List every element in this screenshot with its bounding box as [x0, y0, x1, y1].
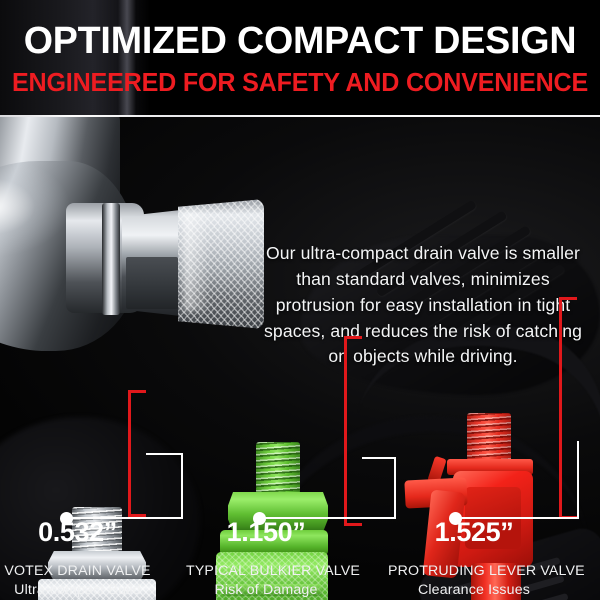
valve-note-label: Risk of Damage [186, 581, 346, 600]
measure-bracket-protruding [559, 297, 577, 519]
elbow-ring [102, 203, 120, 315]
header-banner: OPTIMIZED COMPACT DESIGN ENGINEERED FOR … [0, 0, 600, 116]
valve-threaded-nipple [467, 413, 511, 463]
measurement-value: 1.525” [388, 519, 560, 546]
measure-leader-typical [362, 457, 396, 519]
measure-leader-protruding [577, 441, 579, 519]
page-title: OPTIMIZED COMPACT DESIGN [3, 22, 597, 60]
hero-valve-highlight [184, 211, 210, 311]
hero-product-image [0, 117, 270, 407]
hero-valve-hex-face [126, 257, 178, 309]
valve-name-label: PROTRUDING LEVER VALVE [388, 562, 560, 581]
valve-name-label: TYPICAL BULKIER VALVE [186, 562, 346, 581]
valve-name-label: VOTEX DRAIN VALVE [0, 562, 155, 581]
description-paragraph: Our ultra-compact drain valve is smaller… [256, 241, 590, 370]
measurement-value: 0.532” [0, 519, 155, 546]
valve-threaded-nipple [256, 442, 300, 494]
caption-protruding: 1.525” PROTRUDING LEVER VALVE Clearance … [388, 519, 560, 599]
valve-note-label: Ultra-compact Build [0, 581, 155, 600]
measure-bracket-votex [128, 390, 146, 517]
infographic-page: OPTIMIZED COMPACT DESIGN ENGINEERED FOR … [0, 0, 600, 600]
valve-note-label: Clearance Issues [388, 581, 560, 600]
page-subtitle: ENGINEERED FOR SAFETY AND CONVENIENCE [5, 71, 596, 97]
measurement-value: 1.150” [186, 519, 346, 546]
measure-bracket-typical [344, 336, 362, 526]
engine-bay-photo: Our ultra-compact drain valve is smaller… [0, 117, 600, 600]
caption-votex: 0.532” VOTEX DRAIN VALVE Ultra-compact B… [0, 519, 155, 599]
caption-typical: 1.150” TYPICAL BULKIER VALVE Risk of Dam… [186, 519, 346, 599]
measure-leader-votex [146, 453, 183, 519]
